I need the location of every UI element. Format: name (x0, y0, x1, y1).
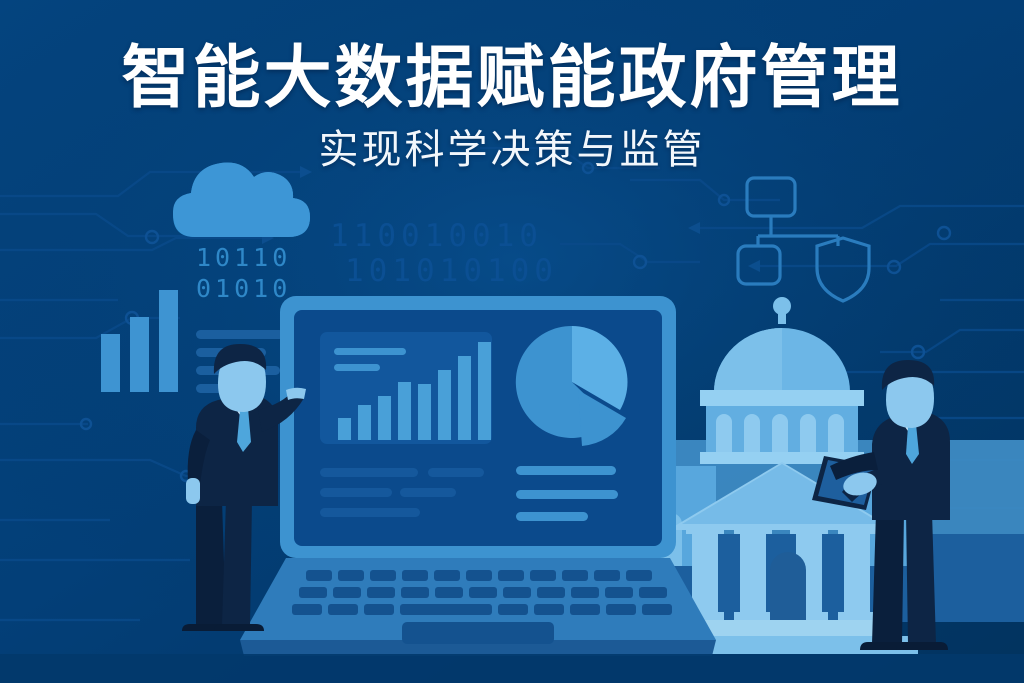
cloud-binary-row-1: 10110 (196, 243, 291, 272)
background-binary-row-1: 110010010 (330, 218, 543, 254)
background-binary-row-2: 101010100 (345, 253, 558, 289)
foreground-floor (0, 0, 1024, 683)
poster-canvas: 110010010 101010100 10110 01010 (0, 0, 1024, 683)
cloud-binary-row-2: 01010 (196, 274, 291, 303)
